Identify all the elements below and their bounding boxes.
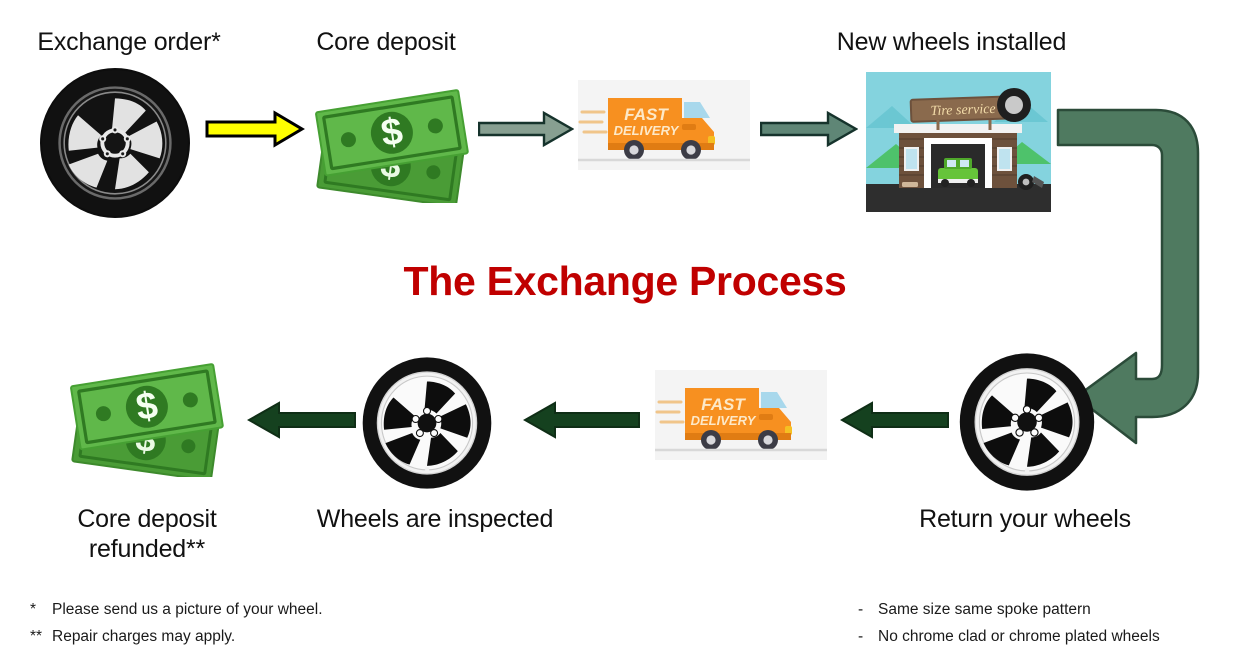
wheel-silver-icon-return <box>953 352 1101 492</box>
label-new-wheels-installed: New wheels installed <box>800 28 1103 58</box>
arrow-shipping-to-inspect <box>523 400 641 440</box>
footnote-marker: ** <box>30 623 52 650</box>
truck-text-delivery: DELIVERY <box>614 123 680 138</box>
wheel-black-icon <box>37 66 193 220</box>
footnotes-left: *Please send us a picture of your wheel.… <box>30 596 323 650</box>
money-icon-bottom: $ $ <box>57 352 237 477</box>
label-core-deposit: Core deposit <box>278 28 494 58</box>
footnote-text: No chrome clad or chrome plated wheels <box>878 628 1160 645</box>
footnote-marker: * <box>30 596 52 623</box>
arrow-order-to-deposit <box>205 109 305 149</box>
label-wheels-are-inspected: Wheels are inspected <box>300 505 570 535</box>
footnote-marker: - <box>858 596 878 623</box>
truck-text-fast: FAST <box>624 105 669 124</box>
label-exchange-order: Exchange order* <box>0 28 258 58</box>
delivery-truck-icon-return: FAST DELIVERY <box>655 370 827 460</box>
footnote-left-1: *Please send us a picture of your wheel. <box>30 596 323 623</box>
label-return-your-wheels: Return your wheels <box>898 505 1152 535</box>
footnote-text: Same size same spoke pattern <box>878 601 1091 618</box>
footnote-left-2: **Repair charges may apply. <box>30 623 323 650</box>
arrow-return-to-shipping <box>840 400 950 440</box>
tire-service-shop-icon: Tire service <box>866 72 1051 212</box>
footnote-right-2: -No chrome clad or chrome plated wheels <box>858 623 1160 650</box>
footnote-marker: - <box>858 623 878 650</box>
arrow-deposit-to-shipping <box>478 110 574 148</box>
footnotes-right: -Same size same spoke pattern -No chrome… <box>858 596 1160 650</box>
label-core-deposit-refunded: Core deposit refunded** <box>27 505 267 564</box>
money-icon-top: $ $ <box>302 78 482 203</box>
arrow-inspect-to-refund <box>247 400 357 440</box>
truck-text-delivery-return: DELIVERY <box>691 413 757 428</box>
shop-sign-text: Tire service <box>930 102 996 119</box>
exchange-process-diagram: Exchange order* Core deposit New wheels … <box>0 0 1250 666</box>
footnote-text: Please send us a picture of your wheel. <box>52 601 323 618</box>
arrow-shipping-to-install <box>760 110 858 148</box>
footnote-right-1: -Same size same spoke pattern <box>858 596 1160 623</box>
delivery-truck-icon-outbound: FAST DELIVERY <box>578 80 750 170</box>
footnote-text: Repair charges may apply. <box>52 628 235 645</box>
page-title: The Exchange Process <box>225 258 1025 305</box>
wheel-silver-icon-inspected <box>357 356 497 490</box>
truck-text-fast-return: FAST <box>701 395 746 414</box>
